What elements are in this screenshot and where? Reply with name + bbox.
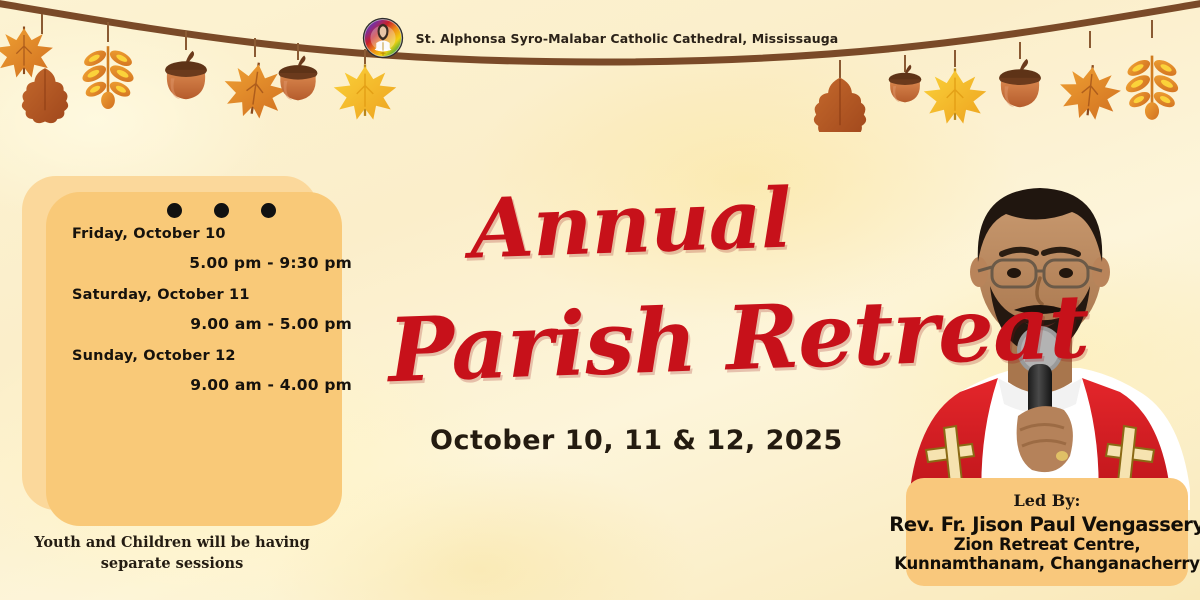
schedule-day: Saturday, October 11 <box>72 287 358 303</box>
binder-hole-3 <box>261 203 276 218</box>
schedule-card: Friday, October 10 5.00 pm - 9:30 pm Sat… <box>22 176 342 526</box>
schedule-day: Friday, October 10 <box>72 226 358 242</box>
schedule-item: Friday, October 10 5.00 pm - 9:30 pm <box>72 226 358 272</box>
speaker-centre-line1: Zion Retreat Centre, <box>954 536 1141 555</box>
speaker-name: Rev. Fr. Jison Paul Vengassery <box>889 513 1200 536</box>
session-note-line1: Youth and Children will be having <box>24 532 320 553</box>
organization-name: St. Alphonsa Syro-Malabar Catholic Cathe… <box>416 31 839 46</box>
session-note: Youth and Children will be having separa… <box>24 532 320 574</box>
page-title-line1: Annual <box>468 170 792 277</box>
schedule-time: 9.00 am - 5.00 pm <box>72 315 358 333</box>
session-note-line2: separate sessions <box>24 553 320 574</box>
schedule-day: Sunday, October 12 <box>72 348 358 364</box>
speaker-card: Led By: Rev. Fr. Jison Paul Vengassery Z… <box>906 478 1188 586</box>
binder-hole-2 <box>214 203 229 218</box>
binder-hole-1 <box>167 203 182 218</box>
schedule-item: Sunday, October 12 9.00 am - 4.00 pm <box>72 348 358 394</box>
speaker-centre-line2: Kunnamthanam, Changanacherry <box>894 555 1200 574</box>
schedule-time: 5.00 pm - 9:30 pm <box>72 254 358 272</box>
poster-header: St. Alphonsa Syro-Malabar Catholic Cathe… <box>0 18 1200 58</box>
schedule-list: Friday, October 10 5.00 pm - 9:30 pm Sat… <box>72 226 358 409</box>
church-emblem-icon <box>362 17 404 59</box>
binder-holes-icon <box>156 199 286 221</box>
poster-canvas: St. Alphonsa Syro-Malabar Catholic Cathe… <box>0 0 1200 600</box>
event-dates: October 10, 11 & 12, 2025 <box>430 425 810 456</box>
schedule-card-surface: Friday, October 10 5.00 pm - 9:30 pm Sat… <box>46 192 342 526</box>
schedule-item: Saturday, October 11 9.00 am - 5.00 pm <box>72 287 358 333</box>
led-by-label: Led By: <box>1014 491 1081 510</box>
schedule-time: 9.00 am - 4.00 pm <box>72 376 358 394</box>
